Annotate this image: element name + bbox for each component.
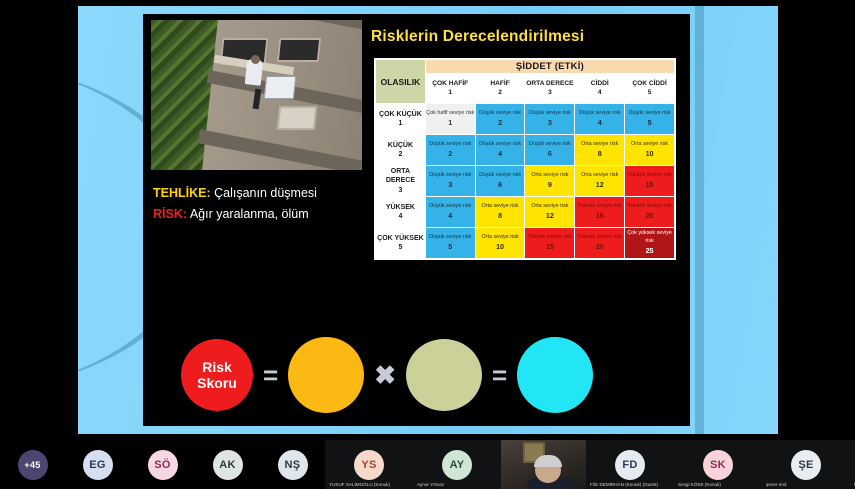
- cell-text: Yüksek seviye risk: [578, 234, 622, 240]
- risk-matrix-table: OLASILIKŞİDDET (ETKİ)ÇOK HAFİF1HAFİF2ORT…: [375, 59, 675, 259]
- participant-overflow-tile[interactable]: +45: [0, 440, 65, 489]
- cell-text: Orta seviye risk: [581, 141, 618, 147]
- participant-name: Filiz DEMİRHAN (Konuk) (Guest): [590, 482, 670, 487]
- participant-name: şener erol: [766, 482, 846, 487]
- severity-column-header: CİDDİ4: [575, 74, 625, 104]
- cell-value: 20: [625, 211, 674, 221]
- cell-value: 8: [575, 149, 624, 159]
- probability-label: KÜÇÜK: [376, 141, 425, 150]
- photo-illustration: [151, 20, 362, 170]
- severity-label: ÇOK CİDDİ: [625, 80, 674, 88]
- cell-text: Düşük seviye risk: [629, 110, 671, 116]
- hazard-value: Çalışanın düşmesi: [214, 186, 317, 200]
- probability-label: ORTA DERECE: [376, 167, 425, 185]
- risk-score-line2: Skoru: [197, 375, 237, 391]
- cell-value: 4: [426, 211, 475, 221]
- meeting-screen: TEHLİKE: Çalışanın düşmesi RİSK: Ağır ya…: [0, 0, 855, 489]
- matrix-row: KÜÇÜK2Düşük seviye risk2Düşük seviye ris…: [376, 135, 675, 166]
- cell-value: 1: [426, 118, 475, 128]
- severity-label: ÇOK HAFİF: [426, 80, 475, 88]
- cell-value: 16: [575, 211, 624, 221]
- severity-label: ORTA DERECE: [525, 80, 574, 88]
- avatar: AK: [213, 450, 243, 480]
- participant-tile[interactable]: AYAynur Yılmaz: [413, 440, 501, 489]
- participant-tile[interactable]: MKMeltem KARAAHMET (Konuk): [850, 440, 855, 489]
- probability-circle: [288, 337, 364, 413]
- risk-matrix: OLASILIKŞİDDET (ETKİ)ÇOK HAFİF1HAFİF2ORT…: [374, 58, 676, 260]
- cell-value: 10: [476, 242, 525, 252]
- matrix-cell: Düşük seviye risk5: [425, 228, 475, 259]
- avatar: FD: [615, 450, 645, 480]
- risk-score-line1: Risk: [202, 359, 232, 375]
- cell-value: 15: [525, 242, 574, 252]
- cell-value: 5: [426, 242, 475, 252]
- matrix-cell: Düşük seviye risk6: [525, 135, 575, 166]
- cell-text: Çok hafif seviye risk: [426, 110, 474, 116]
- cell-value: 20: [575, 242, 624, 252]
- severity-header: ŞİDDET (ETKİ): [425, 60, 674, 74]
- cell-value: 6: [476, 180, 525, 190]
- matrix-cell: Düşük seviye risk5: [625, 104, 675, 135]
- avatar: AY: [442, 450, 472, 480]
- probability-score: 4: [376, 212, 425, 221]
- matrix-cell: Düşük seviye risk3: [525, 104, 575, 135]
- matrix-cell: Düşük seviye risk6: [475, 166, 525, 197]
- decorative-stripe: [695, 6, 704, 434]
- avatar: YS: [354, 450, 384, 480]
- cell-text: Düşük seviye risk: [429, 172, 471, 178]
- probability-label: ÇOK YÜKSEK: [376, 234, 425, 243]
- matrix-cell: Yüksek seviye risk15: [625, 166, 675, 197]
- matrix-cell: Çok hafif seviye risk1: [425, 104, 475, 135]
- cell-text: Yüksek seviye risk: [578, 203, 622, 209]
- matrix-cell: Orta seviye risk12: [575, 166, 625, 197]
- participant-tile[interactable]: AK: [195, 440, 260, 489]
- matrix-cell: Düşük seviye risk2: [425, 135, 475, 166]
- participant-filmstrip[interactable]: +45EGSÖAKNŞYSYUSUF SALİMOĞLU (Konuk)AYAy…: [0, 440, 855, 489]
- participant-tile[interactable]: SÖ: [130, 440, 195, 489]
- probability-score: 2: [376, 150, 425, 159]
- participant-name: Aynur Yılmaz: [417, 482, 497, 487]
- matrix-cell: Düşük seviye risk4: [575, 104, 625, 135]
- cell-text: Düşük seviye risk: [429, 234, 471, 240]
- probability-row-header: ÇOK KÜÇÜK1: [376, 104, 426, 135]
- participant-tile[interactable]: SKSevgi KÖSE (Konuk): [674, 440, 762, 489]
- cell-value: 2: [476, 118, 525, 128]
- participant-tile[interactable]: EG: [65, 440, 130, 489]
- matrix-row: ORTA DERECE3Düşük seviye risk3Düşük sevi…: [376, 166, 675, 197]
- severity-column-header: ÇOK HAFİF1: [425, 74, 475, 104]
- participant-name: YUSUF SALİMOĞLU (Konuk): [329, 482, 409, 487]
- cell-text: Orta seviye risk: [531, 172, 568, 178]
- cell-value: 3: [525, 118, 574, 128]
- risk-score-formula: Risk Skoru = ✖ =: [181, 332, 651, 418]
- risk-label: RİSK:: [153, 207, 187, 221]
- probability-score: 1: [376, 119, 425, 128]
- overflow-count-badge: +45: [18, 450, 48, 480]
- probability-row-header: YÜKSEK4: [376, 197, 426, 228]
- severity-score: 1: [426, 89, 475, 97]
- matrix-row: ÇOK YÜKSEK5Düşük seviye risk5Orta seviye…: [376, 228, 675, 259]
- matrix-cell: Çok yüksek seviye risk25: [625, 228, 675, 259]
- cell-value: 2: [426, 149, 475, 159]
- avatar: EG: [83, 450, 113, 480]
- matrix-cell: Orta seviye risk12: [525, 197, 575, 228]
- probability-row-header: ORTA DERECE3: [376, 166, 426, 197]
- cell-text: Yüksek seviye risk: [627, 172, 671, 178]
- hazard-label: TEHLİKE:: [153, 186, 211, 200]
- probability-label: YÜKSEK: [376, 203, 425, 212]
- severity-column-header: ÇOK CİDDİ5: [625, 74, 675, 104]
- matrix-cell: Düşük seviye risk3: [425, 166, 475, 197]
- presentation-slide: TEHLİKE: Çalışanın düşmesi RİSK: Ağır ya…: [143, 14, 690, 426]
- matrix-cell: Düşük seviye risk4: [425, 197, 475, 228]
- matrix-cell: Yüksek seviye risk15: [525, 228, 575, 259]
- risk-score-circle: Risk Skoru: [181, 339, 253, 411]
- cell-value: 9: [525, 180, 574, 190]
- cell-text: Düşük seviye risk: [429, 203, 471, 209]
- cell-text: Orta seviye risk: [481, 203, 518, 209]
- severity-label: HAFİF: [476, 80, 525, 88]
- probability-header: OLASILIK: [376, 60, 426, 104]
- severity-score: 4: [575, 89, 624, 97]
- hazard-line: TEHLİKE: Çalışanın düşmesi: [153, 186, 378, 200]
- equals-operator-2: =: [492, 362, 507, 388]
- severity-score: 5: [625, 89, 674, 97]
- cell-text: Düşük seviye risk: [529, 110, 571, 116]
- avatar: NŞ: [278, 450, 308, 480]
- risk-value: Ağır yaralanma, ölüm: [190, 207, 309, 221]
- cell-text: Yüksek seviye risk: [528, 234, 572, 240]
- cell-text: Yüksek seviye risk: [627, 203, 671, 209]
- avatar: SK: [703, 450, 733, 480]
- severity-score: 3: [525, 89, 574, 97]
- matrix-cell: Yüksek seviye risk20: [625, 197, 675, 228]
- cell-text: Düşük seviye risk: [479, 172, 521, 178]
- cell-text: Düşük seviye risk: [579, 110, 621, 116]
- matrix-cell: Orta seviye risk9: [525, 166, 575, 197]
- severity-label: CİDDİ: [575, 80, 624, 88]
- participant-tile[interactable]: NŞ: [260, 440, 325, 489]
- cell-text: Çok yüksek seviye risk: [627, 230, 672, 243]
- multiply-operator: ✖: [374, 362, 396, 388]
- severity-circle: [406, 339, 482, 411]
- matrix-cell: Orta seviye risk10: [625, 135, 675, 166]
- severity-score: 2: [476, 89, 525, 97]
- cell-text: Düşük seviye risk: [479, 110, 521, 116]
- participant-tile[interactable]: YSYUSUF SALİMOĞLU (Konuk): [325, 440, 413, 489]
- cell-text: Orta seviye risk: [531, 203, 568, 209]
- cell-value: 4: [476, 149, 525, 159]
- matrix-row: YÜKSEK4Düşük seviye risk4Orta seviye ris…: [376, 197, 675, 228]
- matrix-cell: Orta seviye risk10: [475, 228, 525, 259]
- cell-value: 3: [426, 180, 475, 190]
- air-conditioner-unit: [264, 76, 296, 99]
- matrix-cell: Düşük seviye risk2: [475, 104, 525, 135]
- hazard-description: TEHLİKE: Çalışanın düşmesi RİSK: Ağır ya…: [153, 186, 378, 228]
- matrix-cell: Yüksek seviye risk20: [575, 228, 625, 259]
- probability-label: ÇOK KÜÇÜK: [376, 110, 425, 119]
- probability-score: 3: [376, 186, 425, 195]
- slide-title: Risklerin Derecelendirilmesi: [371, 28, 686, 46]
- cell-text: Orta seviye risk: [481, 234, 518, 240]
- participant-name: Sevgi KÖSE (Konuk): [678, 482, 758, 487]
- participant-tile[interactable]: ŞEşener erol: [762, 440, 850, 489]
- cell-text: Düşük seviye risk: [529, 141, 571, 147]
- cell-text: Orta seviye risk: [581, 172, 618, 178]
- cell-value: 12: [525, 211, 574, 221]
- hazard-photo: [151, 20, 362, 170]
- matrix-cell: Orta seviye risk8: [475, 197, 525, 228]
- shared-screen-stage: TEHLİKE: Çalışanın düşmesi RİSK: Ağır ya…: [0, 0, 855, 440]
- cell-value: 6: [525, 149, 574, 159]
- video-tile[interactable]: [501, 440, 586, 489]
- risk-line: RİSK: Ağır yaralanma, ölüm: [153, 207, 378, 221]
- cell-value: 8: [476, 211, 525, 221]
- severity-column-header: HAFİF2: [475, 74, 525, 104]
- matrix-cell: Orta seviye risk8: [575, 135, 625, 166]
- cell-text: Düşük seviye risk: [479, 141, 521, 147]
- cell-text: Düşük seviye risk: [429, 141, 471, 147]
- probability-row-header: ÇOK YÜKSEK5: [376, 228, 426, 259]
- matrix-row: ÇOK KÜÇÜK1Çok hafif seviye risk1Düşük se…: [376, 104, 675, 135]
- cell-value: 25: [625, 246, 674, 256]
- cell-value: 5: [625, 118, 674, 128]
- cell-text: Orta seviye risk: [631, 141, 668, 147]
- cell-value: 10: [625, 149, 674, 159]
- matrix-cell: Düşük seviye risk4: [475, 135, 525, 166]
- cell-value: 15: [625, 180, 674, 190]
- equals-operator-1: =: [263, 362, 278, 388]
- severity-column-header: ORTA DERECE3: [525, 74, 575, 104]
- matrix-cell: Yüksek seviye risk16: [575, 197, 625, 228]
- result-circle: [517, 337, 593, 413]
- avatar: ŞE: [791, 450, 821, 480]
- probability-score: 5: [376, 243, 425, 252]
- probability-row-header: KÜÇÜK2: [376, 135, 426, 166]
- cell-value: 12: [575, 180, 624, 190]
- cell-value: 4: [575, 118, 624, 128]
- avatar: SÖ: [148, 450, 178, 480]
- participant-tile[interactable]: FDFiliz DEMİRHAN (Konuk) (Guest): [586, 440, 674, 489]
